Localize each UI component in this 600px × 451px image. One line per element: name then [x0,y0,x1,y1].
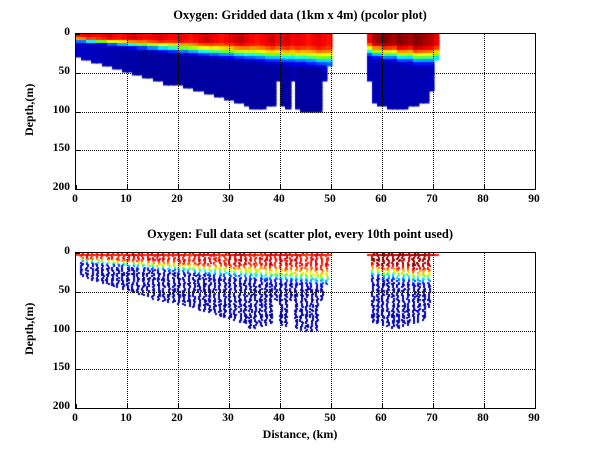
tick-mark-x [433,185,434,189]
panel-gridded-ylabel: Depth,(m) [22,84,37,136]
x-tick-label: 20 [157,193,197,205]
gridline-horizontal [76,150,535,151]
x-tick-label: 0 [55,412,95,424]
tick-mark-y [76,331,80,332]
panel-scatter-title: Oxygen: Full data set (scatter plot, eve… [0,227,600,242]
tick-mark-x [535,185,536,189]
gridline-horizontal [76,331,535,332]
gridline-horizontal [76,112,535,113]
x-tick-label: 0 [55,193,95,205]
tick-mark-x [178,404,179,408]
x-tick-label: 60 [361,193,401,205]
x-tick-label: 10 [106,193,146,205]
tick-mark-x [127,404,128,408]
x-tick-label: 20 [157,412,197,424]
tick-mark-x [127,185,128,189]
y-tick-label: 50 [36,65,70,77]
tick-mark-x [433,404,434,408]
x-tick-label: 80 [463,193,503,205]
tick-mark-x [331,185,332,189]
y-tick-label: 150 [36,361,70,373]
tick-mark-y [76,73,80,74]
y-tick-label: 0 [36,245,70,257]
tick-mark-x [484,185,485,189]
tick-mark-y [76,34,80,35]
gridline-horizontal [76,292,535,293]
x-tick-label: 10 [106,412,146,424]
tick-mark-y [76,292,80,293]
x-tick-label: 70 [412,193,452,205]
tick-mark-x [484,404,485,408]
tick-mark-y [76,189,80,190]
x-tick-label: 30 [208,412,248,424]
tick-mark-x [229,404,230,408]
y-tick-label: 50 [36,284,70,296]
y-tick-label: 0 [36,26,70,38]
y-tick-label: 100 [36,323,70,335]
x-tick-label: 80 [463,412,503,424]
panel-gridded-axes [75,33,536,190]
x-tick-label: 50 [310,412,350,424]
x-tick-label: 40 [259,193,299,205]
tick-mark-x [331,404,332,408]
x-tick-label: 40 [259,412,299,424]
panel-gridded-title: Oxygen: Gridded data (1km x 4m) (pcolor … [0,8,600,23]
tick-mark-y [76,369,80,370]
x-tick-label: 70 [412,412,452,424]
tick-mark-x [280,404,281,408]
tick-mark-x [382,185,383,189]
y-tick-label: 100 [36,104,70,116]
x-tick-label: 50 [310,193,350,205]
tick-mark-y [76,253,80,254]
gridline-horizontal [76,73,535,74]
panel-gridded: Oxygen: Gridded data (1km x 4m) (pcolor … [0,8,600,208]
tick-mark-x [280,185,281,189]
tick-mark-y [76,150,80,151]
tick-mark-x [535,404,536,408]
figure: Oxygen: Gridded data (1km x 4m) (pcolor … [0,0,600,451]
tick-mark-x [382,404,383,408]
y-tick-label: 150 [36,142,70,154]
gridline-horizontal [76,369,535,370]
tick-mark-y [76,408,80,409]
y-tick-label: 200 [36,181,70,193]
panel-scatter-xlabel: Distance, (km) [0,427,600,442]
tick-mark-y [76,112,80,113]
panel-scatter-axes [75,252,536,409]
panel-scatter: Oxygen: Full data set (scatter plot, eve… [0,227,600,451]
x-tick-label: 90 [514,193,554,205]
y-tick-label: 200 [36,400,70,412]
x-tick-label: 30 [208,193,248,205]
x-tick-label: 60 [361,412,401,424]
tick-mark-x [229,185,230,189]
panel-scatter-ylabel: Depth,(m) [22,303,37,355]
x-tick-label: 90 [514,412,554,424]
tick-mark-x [178,185,179,189]
